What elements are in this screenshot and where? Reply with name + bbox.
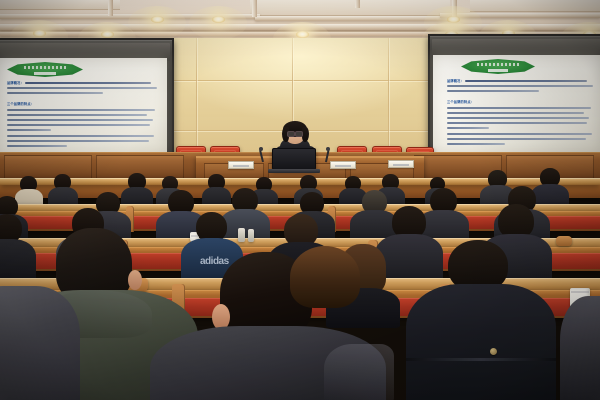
right-projection-screen[interactable]: 品牌概况： 三个品牌的特点：	[428, 34, 600, 162]
bench-armrest	[556, 236, 572, 246]
person-body	[0, 239, 36, 281]
slide-heading-2: 三个品牌的特点：	[447, 100, 565, 104]
microphone-icon	[259, 147, 263, 151]
logo-subtext-band	[34, 72, 55, 75]
screen-surface: 品牌概况： 三个品牌的特点：	[433, 55, 600, 152]
water-bottle	[238, 228, 245, 242]
water-bottle	[248, 229, 254, 242]
person-body	[560, 296, 600, 400]
logo-subtext-band	[488, 69, 509, 72]
slide-text-line	[447, 143, 505, 145]
slide-text-line	[447, 122, 587, 124]
downlight-icon	[212, 16, 225, 23]
eyeglasses-icon	[287, 131, 303, 135]
microphone-icon	[326, 147, 330, 151]
downlight-icon	[447, 16, 460, 23]
name-card	[330, 161, 356, 169]
slide-text-line	[447, 133, 592, 135]
jacket-button-icon	[490, 348, 497, 355]
green-diamond-logo	[7, 62, 83, 77]
slide-text-line	[7, 109, 155, 111]
left-projection-screen[interactable]: 品牌概况： 三个品牌的特点：	[0, 38, 174, 164]
slide-text-line	[447, 107, 591, 109]
green-diamond-logo	[461, 59, 535, 74]
downlight-icon	[101, 31, 114, 38]
slide-text-line	[7, 129, 51, 131]
conference-hall-photo: 品牌概况： 三个品牌的特点： 品牌概况：	[0, 0, 600, 400]
slide-text-line	[447, 127, 489, 129]
slide-text-line	[7, 140, 149, 142]
slide-text-line	[7, 135, 154, 137]
jacket-seam	[406, 358, 556, 361]
person-body	[0, 286, 80, 400]
screen-surface: 品牌概况： 三个品牌的特点：	[0, 58, 167, 154]
name-card	[388, 160, 414, 168]
slide-text-line	[7, 124, 150, 126]
slide-text-line	[447, 90, 539, 92]
slide-text-line	[447, 85, 593, 87]
slide-text-line	[7, 119, 153, 121]
person-head	[290, 246, 360, 308]
slide-heading-2: 三个品牌的特点：	[7, 102, 127, 106]
person-ear	[128, 270, 142, 290]
slide-text-line	[7, 92, 103, 94]
slide-text-line	[447, 117, 589, 119]
person-body	[406, 284, 556, 400]
shoulder-highlight	[324, 344, 394, 400]
slide-text-line	[447, 112, 584, 114]
adidas-logo-text: adidas	[200, 256, 229, 267]
slide-text-line	[7, 145, 67, 147]
slide-text-line	[25, 82, 151, 84]
slide-text-line	[7, 114, 147, 116]
laptop-base	[268, 169, 320, 173]
downlight-icon	[151, 16, 164, 23]
slide-text-line	[7, 87, 157, 89]
slide-text-line	[447, 138, 586, 140]
downlight-icon	[296, 31, 309, 38]
downlight-icon	[33, 30, 46, 37]
laptop	[272, 148, 316, 170]
name-card	[228, 161, 254, 169]
slide-text-line	[465, 80, 587, 82]
